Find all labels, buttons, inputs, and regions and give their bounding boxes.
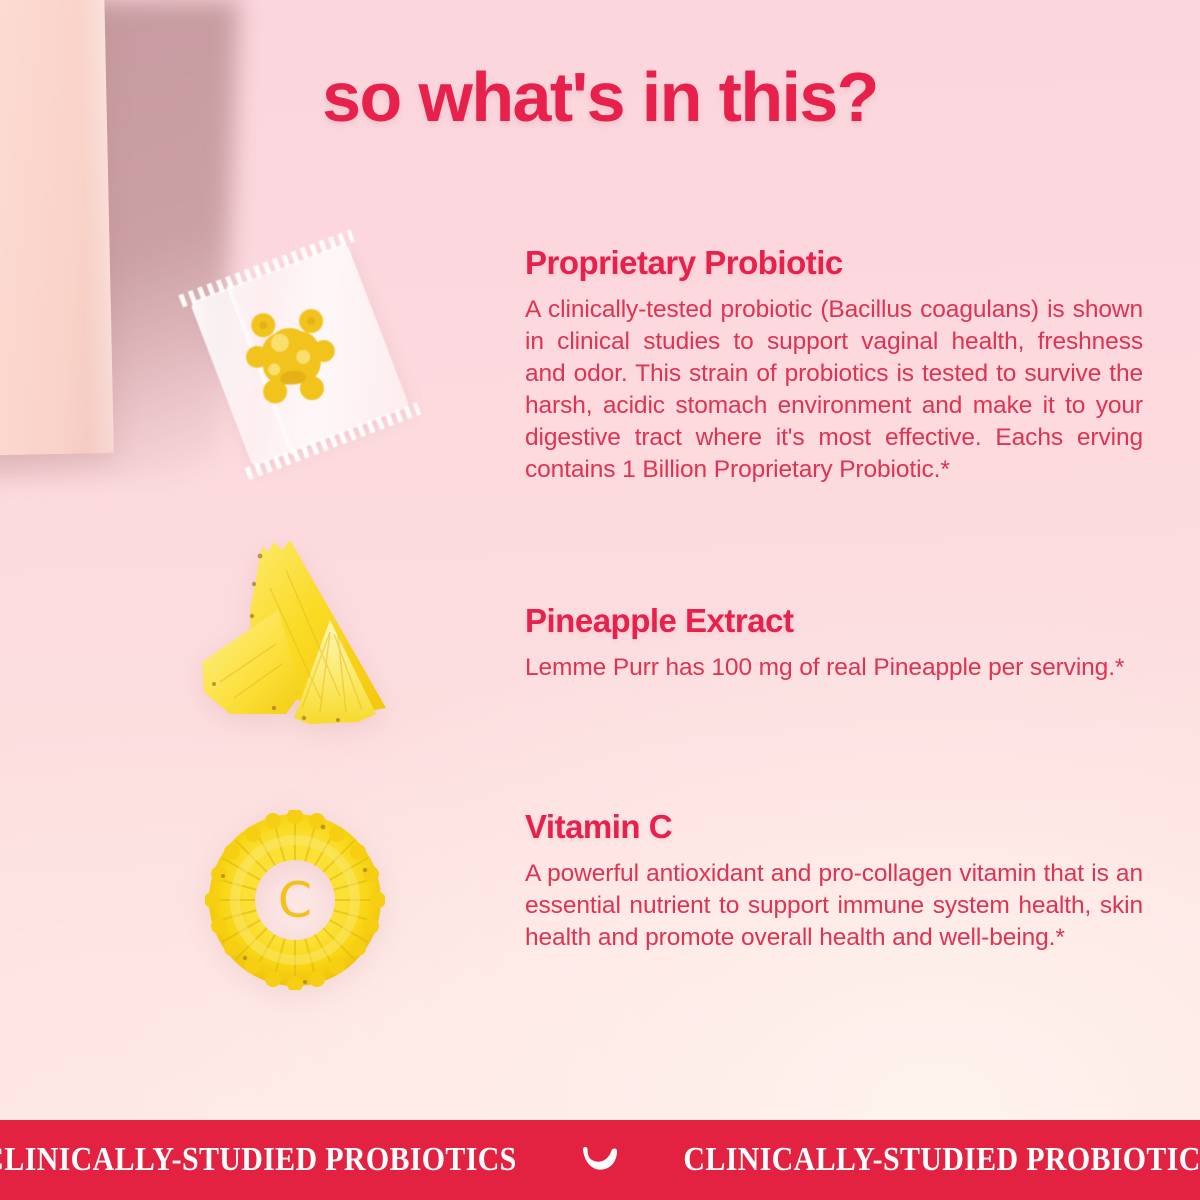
section-title: Proprietary Probiotic — [525, 246, 1143, 281]
product-ingredients-infographic: so what's in this? — [0, 0, 1200, 1200]
banner-text-left: CLINICALLY-STUDIED PROBIOTICS — [0, 1141, 517, 1179]
smile-icon — [579, 1145, 621, 1175]
section-body: A clinically-tested probiotic (Bacillus … — [525, 294, 1143, 487]
ingredient-section-probiotic: Proprietary Probiotic A clinically-teste… — [0, 246, 1200, 546]
page-title: so what's in this? — [0, 62, 1200, 132]
section-body: A powerful antioxidant and pro-collagen … — [525, 858, 1143, 954]
section-title: Pineapple Extract — [525, 604, 1143, 639]
ingredient-section-vitamin-c: C Vitamin C A powerful antioxidant and p… — [0, 810, 1200, 1030]
section-body: Lemme Purr has 100 mg of real Pineapple … — [525, 652, 1143, 684]
ingredient-copy-probiotic: Proprietary Probiotic A clinically-teste… — [525, 246, 1143, 486]
vitamin-c-letter: C — [205, 810, 385, 990]
pineapple-wedges-image — [190, 532, 410, 732]
bottom-banner: CLINICALLY-STUDIED PROBIOTICS CLINICALLY… — [0, 1120, 1200, 1200]
gummy-bear-icon — [239, 302, 343, 406]
banner-text-right: CLINICALLY-STUDIED PROBIOTICS — [683, 1141, 1200, 1179]
section-title: Vitamin C — [525, 810, 1143, 845]
ingredient-section-pineapple: Pineapple Extract Lemme Purr has 100 mg … — [0, 604, 1200, 824]
pineapple-ring-image: C — [205, 810, 385, 990]
ingredient-copy-pineapple: Pineapple Extract Lemme Purr has 100 mg … — [525, 604, 1143, 684]
ingredient-copy-vitamin-c: Vitamin C A powerful antioxidant and pro… — [525, 810, 1143, 954]
gummy-sachet-image — [182, 240, 422, 470]
